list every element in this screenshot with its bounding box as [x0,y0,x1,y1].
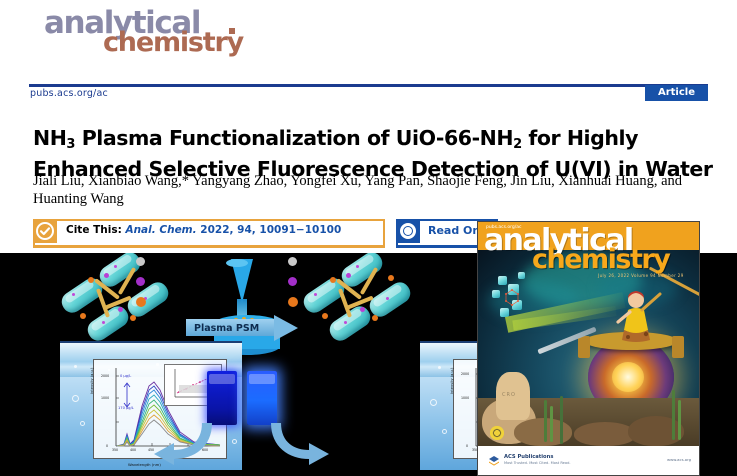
ytick: 2000 [101,374,109,378]
xtick: 350 [112,448,118,452]
title-sub-3: 3 [66,137,75,152]
ytick: 2000 [461,372,469,376]
cover-issue-line: July 26, 2022 Volume 94 Number 29 [598,273,684,278]
globe-icon [400,223,416,239]
acs-publisher-tagline: Most Trusted. Most Cited. Most Read. [504,461,571,465]
atom-legend-left [136,257,150,321]
return-arrow-right [263,421,333,467]
mof-structure-functionalized [300,255,450,355]
acs-publications-logo-icon [488,454,500,466]
xtick: 400 [130,448,136,452]
annot-concentration-high: 170 μg/L [118,406,134,410]
masthead-chemistry: chemistry [103,29,243,56]
cite-label: Cite This: [66,224,122,236]
cuvette-before [207,371,237,425]
article-first-page: analytical chemistry pubs.acs.org/ac Art… [0,0,737,476]
ytick: 1000 [101,396,109,400]
purple-atom-icon [288,277,297,286]
cite-this-text: Cite This: Anal. Chem. 2022, 94, 10091−1… [66,224,341,236]
title-sub-2: 2 [513,137,522,152]
pubs-url[interactable]: pubs.acs.org/ac [30,88,108,99]
cuvette-after [247,371,277,425]
process-arrow: Plasma PSM [186,315,304,341]
cite-citation: 2022, 94, 10091−10100 [200,224,341,236]
orange-atom-icon [288,297,298,307]
title-mid: Plasma Functionalization of UiO-66-NH [75,126,513,150]
cite-journal: Anal. Chem. [125,224,196,236]
journal-masthead-logo: analytical chemistry [44,8,304,62]
article-type-badge: Article [645,85,708,101]
cover-masthead-chemistry: chemistry [532,246,669,273]
acs-url: www.acs.org [667,457,691,462]
plot-ylabel-right: Intensity (a.u.) [450,368,454,394]
journal-cover-thumbnail[interactable]: pubs.acs.org/ac [478,222,699,475]
header-rule [29,84,708,87]
masthead-dot [229,28,235,34]
cover-artwork: CRO [478,250,699,446]
ytick: 0 [466,444,468,448]
ytick: 1000 [461,396,469,400]
title-nh3-pre: NH [33,126,66,150]
annot-concentration-low: 0 μg/L [120,374,131,378]
check-circle-icon [33,219,57,243]
plot-ylabel-left: Intensity (a.u.) [90,368,94,394]
ytick: 0 [106,444,108,448]
author-list: Jiali Liu, Xianbiao Wang,* Yangyang Zhao… [33,172,709,208]
orange-atom-icon [136,297,146,307]
acs-publisher-name: ACS Publications [504,454,553,460]
gray-atom-icon [288,257,297,266]
atom-legend-right [288,257,302,321]
cover-footer: ACS Publications Most Trusted. Most Cite… [478,446,699,475]
arrow-head-icon [274,315,298,341]
gray-atom-icon [136,257,145,266]
return-arrow-left [150,421,220,467]
process-label: Plasma PSM [194,323,259,334]
purple-atom-icon [136,277,145,286]
